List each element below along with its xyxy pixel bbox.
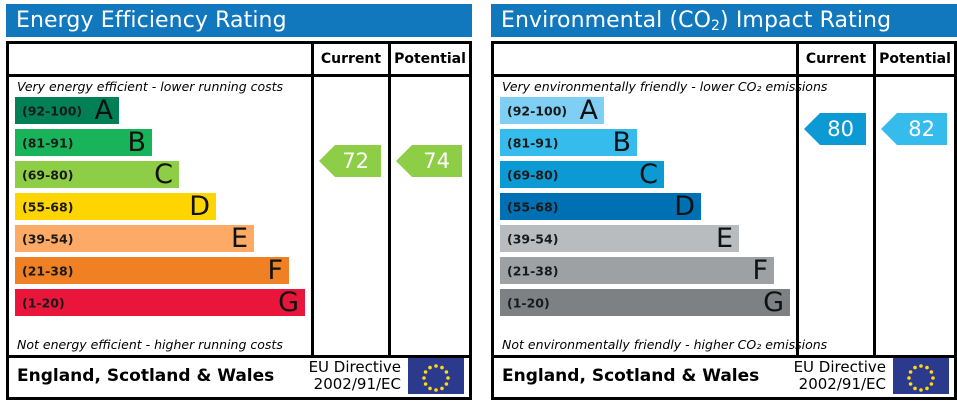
footer-directive: EU Directive 2002/91/EC [794,359,886,393]
band-range-g: (1-20) [507,295,550,310]
band-bar-b: (81-91) B [15,129,152,156]
environmental-impact-title: Environmental (CO2) Impact Rating [491,4,957,37]
current-rating-arrow: 80 [804,113,866,145]
footer-country: England, Scotland & Wales [17,366,274,386]
band-bar-a: (92-100) A [15,97,119,124]
band-letter-e: E [231,224,248,251]
header-current: Current [311,44,388,74]
footer-directive: EU Directive 2002/91/EC [309,359,401,393]
band-letter-a: A [580,96,598,123]
band-bar-e: (39-54) E [15,225,254,252]
energy-band-graph: Very energy efficient - lower running co… [9,77,311,355]
table-body-row: Very energy efficient - lower running co… [9,77,469,358]
band-range-f: (21-38) [507,263,558,278]
eu-flag-icon [893,358,949,394]
band-letter-b: B [127,128,146,155]
table-body-row: Very environmentally friendly - lower CO… [494,77,954,358]
band-letter-f: F [752,256,768,283]
note-very-efficient: Very energy efficient - lower running co… [17,79,283,94]
band-range-a: (92-100) [507,103,567,118]
band-letter-f: F [267,256,283,283]
band-range-e: (39-54) [507,231,558,246]
band-bar-b: (81-91) B [500,129,637,156]
header-blank-cell [9,44,311,74]
potential-rating-arrow: 82 [881,113,947,145]
eu-flag-icon [408,358,464,394]
band-letter-c: C [154,160,173,187]
potential-rating-arrow: 74 [396,145,462,177]
band-letter-g: G [763,288,784,315]
band-bar-g: (1-20) G [500,289,790,316]
note-very-friendly: Very environmentally friendly - lower CO… [502,79,827,94]
footer-directive-line2: 2002/91/EC [309,376,401,393]
band-bar-c: (69-80) C [500,161,664,188]
band-range-b: (81-91) [22,135,73,150]
band-bar-d: (55-68) D [15,193,216,220]
table-footer-row: England, Scotland & Wales EU Directive 2… [494,355,954,397]
band-bar-f: (21-38) F [500,257,774,284]
co2-band-graph: Very environmentally friendly - lower CO… [494,77,796,355]
footer-directive-line1: EU Directive [309,359,401,376]
band-range-e: (39-54) [22,231,73,246]
band-range-d: (55-68) [22,199,73,214]
potential-rating-cell: 74 [388,77,469,355]
potential-rating-cell: 82 [873,77,954,355]
footer-directive-line1: EU Directive [794,359,886,376]
header-blank-cell [494,44,796,74]
band-range-c: (69-80) [22,167,73,182]
current-rating-cell: 80 [796,77,873,355]
footer-country: England, Scotland & Wales [502,366,759,386]
header-potential: Potential [388,44,469,74]
footer-directive-line2: 2002/91/EC [794,376,886,393]
band-range-a: (92-100) [22,103,82,118]
note-not-friendly: Not environmentally friendly - higher CO… [502,337,827,352]
band-letter-c: C [639,160,658,187]
band-range-g: (1-20) [22,295,65,310]
band-letter-b: B [612,128,631,155]
band-bar-a: (92-100) A [500,97,604,124]
environmental-impact-table: Current Potential Very environmentally f… [491,41,957,400]
band-range-f: (21-38) [22,263,73,278]
band-bar-g: (1-20) G [15,289,305,316]
table-footer-row: England, Scotland & Wales EU Directive 2… [9,355,469,397]
band-range-b: (81-91) [507,135,558,150]
band-bar-d: (55-68) D [500,193,701,220]
header-current: Current [796,44,873,74]
band-letter-e: E [716,224,733,251]
band-bar-e: (39-54) E [500,225,739,252]
band-bar-f: (21-38) F [15,257,289,284]
energy-efficiency-title: Energy Efficiency Rating [6,4,472,37]
energy-efficiency-table: Current Potential Very energy efficient … [6,41,472,400]
band-letter-a: A [95,96,113,123]
band-letter-g: G [278,288,299,315]
title-suffix: ) Impact Rating [720,8,891,33]
band-range-c: (69-80) [507,167,558,182]
title-prefix: Environmental (CO [501,8,711,33]
band-letter-d: D [674,192,695,219]
energy-efficiency-chart: Energy Efficiency Rating Current Potenti… [0,0,472,404]
current-rating-cell: 72 [311,77,388,355]
table-header-row: Current Potential [9,44,469,77]
note-not-efficient: Not energy efficient - higher running co… [17,337,283,352]
band-range-d: (55-68) [507,199,558,214]
epc-certificate-page: Energy Efficiency Rating Current Potenti… [0,0,957,404]
header-potential: Potential [873,44,954,74]
table-header-row: Current Potential [494,44,954,77]
environmental-impact-chart: Environmental (CO2) Impact Rating Curren… [485,0,957,404]
current-rating-arrow: 72 [319,145,381,177]
title-subscript: 2 [711,18,720,34]
band-letter-d: D [189,192,210,219]
band-bar-c: (69-80) C [15,161,179,188]
